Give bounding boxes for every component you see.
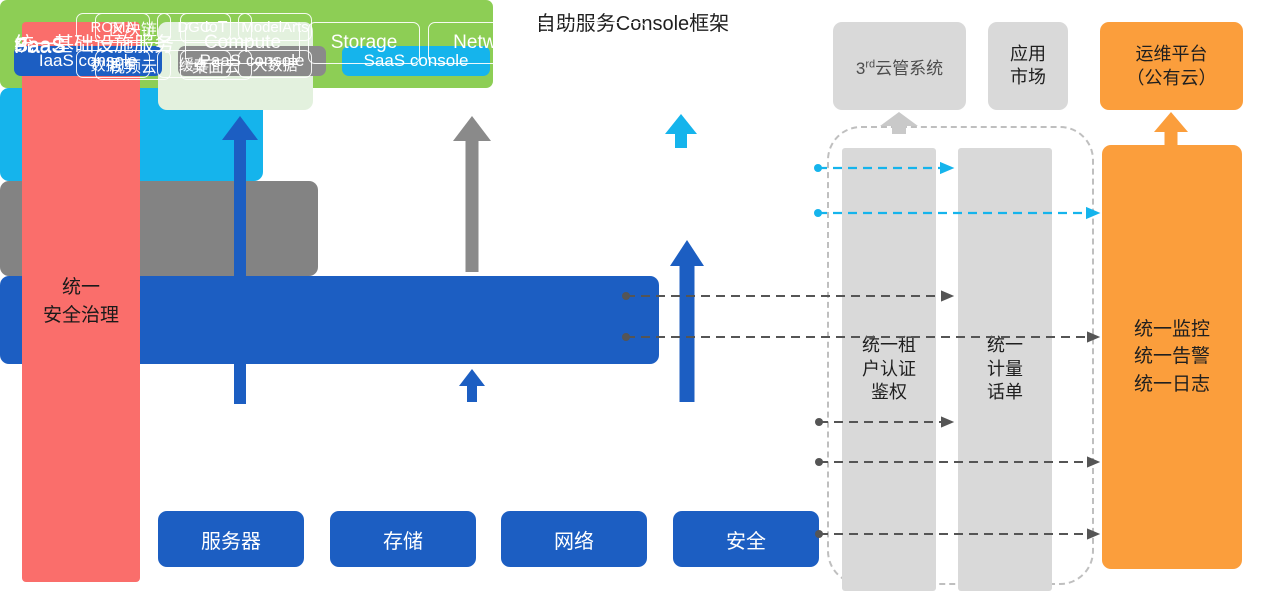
unified-monitoring-panel: 统一监控 统一告警 统一日志 — [1102, 145, 1242, 569]
metering-line-1: 统一 — [987, 334, 1023, 358]
infra-chip-storage[interactable]: Storage — [308, 22, 420, 64]
third-party-prefix: 3 — [856, 59, 865, 78]
ops-platform-line-2: （公有云） — [1127, 66, 1217, 90]
metering-line-2: 计量 — [987, 358, 1023, 382]
unified-tenant-auth-column: 统一租 户认证 鉴权 — [842, 148, 936, 591]
architecture-diagram: 统一 安全治理 API网关 自助服务Console框架 IaaS console… — [0, 0, 1265, 605]
ops-platform-box: 运维平台 （公有云） — [1100, 22, 1243, 110]
resource-box-storage[interactable]: 存储 — [330, 511, 476, 567]
third-party-cloud-management-box: 3rd云管系统 — [833, 22, 966, 110]
infra-chip-network[interactable]: Network — [428, 22, 548, 64]
saas-to-console-arrow-icon — [665, 114, 697, 148]
to-ops-platform-arrow-icon — [1154, 112, 1188, 146]
resource-box-security[interactable]: 安全 — [673, 511, 819, 567]
third-party-rest: 云管系统 — [875, 59, 943, 78]
ops-platform-line-1: 运维平台 — [1127, 42, 1217, 66]
infra-chip-cce[interactable]: CCE — [556, 22, 646, 64]
infra-to-paas-arrow-icon — [459, 369, 485, 402]
security-line-2: 安全治理 — [43, 302, 119, 330]
monitoring-line-3: 统一日志 — [1134, 371, 1210, 399]
paas-to-console-arrow-icon — [453, 116, 491, 272]
third-party-label: 3rd云管系统 — [856, 54, 943, 79]
infrastructure-label: 统一基础设施服务 — [14, 28, 174, 57]
monitoring-line-1: 统一监控 — [1134, 316, 1210, 344]
resource-box-network[interactable]: 网络 — [501, 511, 647, 567]
app-market-line-1: 应用 — [1010, 43, 1046, 66]
third-party-superscript: rd — [865, 58, 875, 70]
auth-line-1: 统一租 — [862, 334, 916, 358]
application-market-box: 应用 市场 — [988, 22, 1068, 110]
auth-line-2: 户认证 — [862, 358, 916, 382]
monitoring-line-2: 统一告警 — [1134, 343, 1210, 371]
security-line-1: 统一 — [43, 274, 119, 302]
infra-chip-compute[interactable]: Compute — [185, 22, 300, 64]
unified-security-governance-panel: 统一 安全治理 — [22, 22, 140, 582]
infra-to-saas-arrow-icon — [670, 240, 704, 402]
app-market-line-2: 市场 — [1010, 66, 1046, 89]
to-third-party-arrow-icon — [880, 112, 918, 134]
resource-box-server[interactable]: 服务器 — [158, 511, 304, 567]
auth-line-3: 鉴权 — [862, 381, 916, 405]
unified-metering-billing-column: 统一 计量 话单 — [958, 148, 1052, 591]
metering-line-3: 话单 — [987, 381, 1023, 405]
infra-to-api-gateway-arrow-icon — [222, 116, 258, 404]
